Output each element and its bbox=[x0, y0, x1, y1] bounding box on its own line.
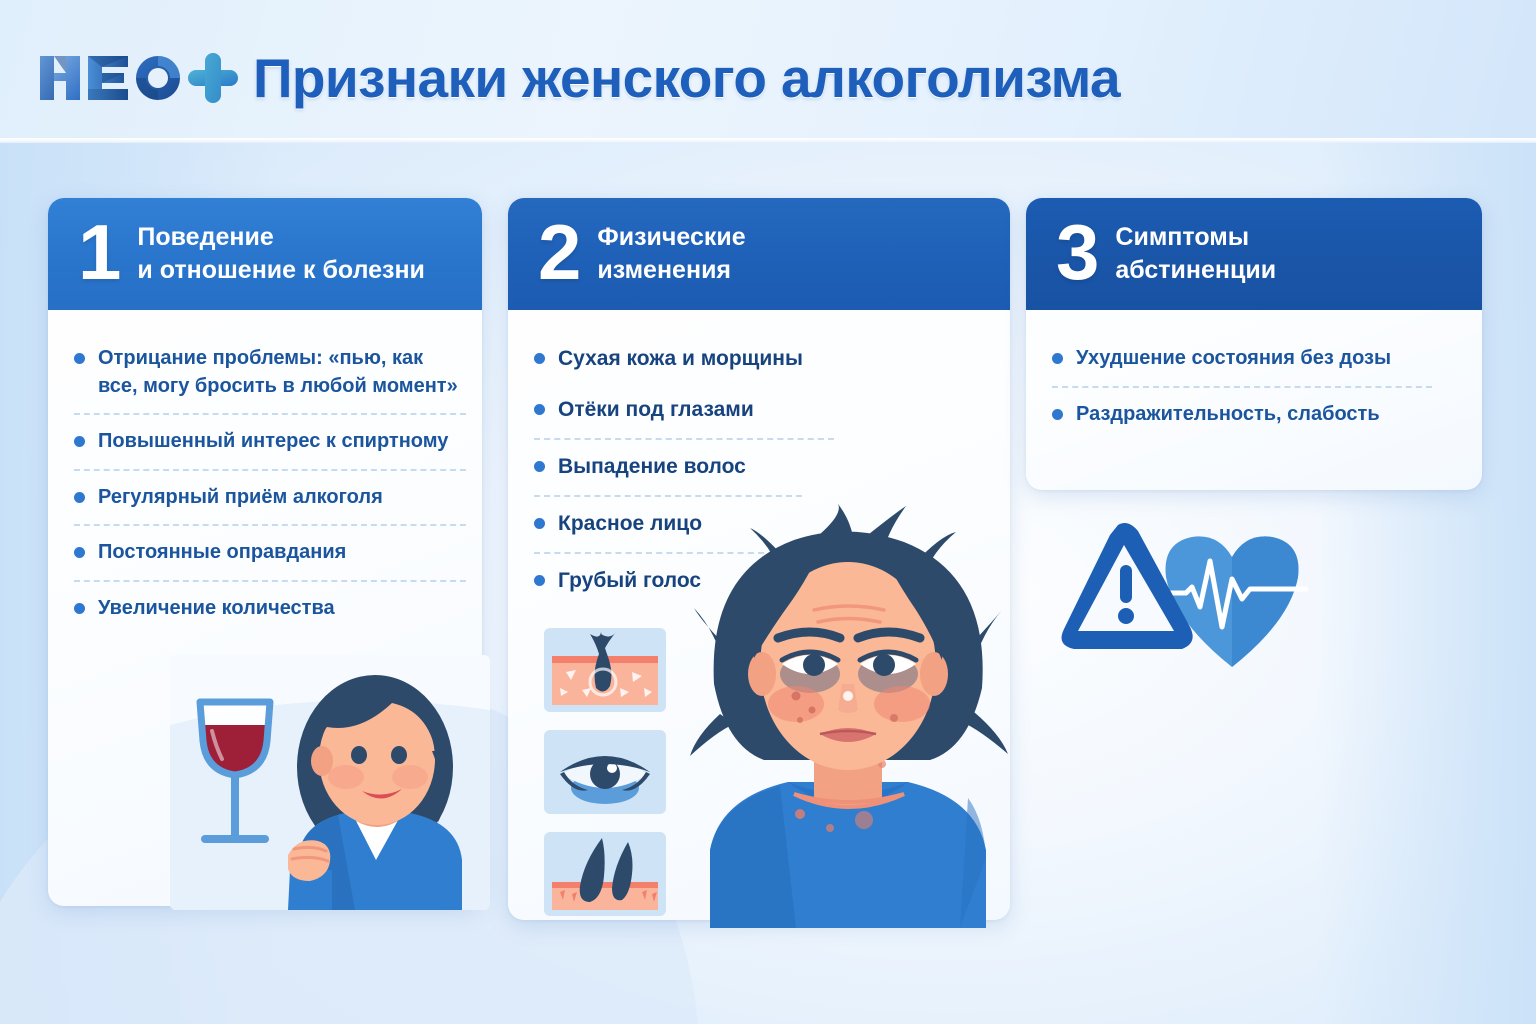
card-2-item-2: Отёки под глазами bbox=[558, 396, 754, 425]
card-1-item-1: Отрицание проблемы: «пью, как все, могу … bbox=[98, 345, 460, 400]
card-3-title-line2: абстиненции bbox=[1115, 254, 1276, 287]
list-separator bbox=[1052, 386, 1432, 388]
separator-row bbox=[1048, 386, 1460, 388]
card-3-item-1: Ухудшение состояния без дозы bbox=[1076, 345, 1391, 373]
card-2-item-5: Грубый голос bbox=[558, 567, 701, 596]
symptom-icon-panels bbox=[544, 626, 666, 916]
card-2-title-line1: Физические bbox=[597, 223, 745, 251]
card-1-title: Поведение и отношение к болезни bbox=[137, 221, 425, 287]
bullet-icon bbox=[534, 353, 545, 364]
bullet-icon bbox=[534, 518, 545, 529]
list-separator bbox=[74, 413, 466, 415]
separator-row bbox=[530, 552, 988, 554]
list-separator bbox=[534, 438, 834, 440]
separator-row bbox=[530, 438, 988, 440]
card-3-header: 3 Симптомы абстиненции bbox=[1026, 198, 1482, 310]
card-3-item-2: Раздражительность, слабость bbox=[1076, 401, 1380, 429]
card-2-body: Сухая кожа и морщины Отёки под глазами В… bbox=[508, 310, 1010, 607]
list-item: Повышенный интерес к спиртному bbox=[70, 417, 460, 467]
card-2-title-line2: изменения bbox=[597, 254, 745, 287]
list-separator bbox=[74, 469, 466, 471]
bullet-icon bbox=[1052, 353, 1063, 364]
card-2-title: Физические изменения bbox=[597, 221, 745, 287]
card-3-list: Ухудшение состояния без дозы Раздражител… bbox=[1048, 334, 1460, 439]
card-2-number: 2 bbox=[538, 221, 581, 285]
infographic-page: Признаки женского алкоголизма 1 Поведени… bbox=[0, 0, 1536, 1024]
header-divider bbox=[0, 138, 1536, 143]
card-3-body: Ухудшение состояния без дозы Раздражител… bbox=[1026, 310, 1482, 439]
card-3-title: Симптомы абстиненции bbox=[1115, 221, 1276, 287]
bullet-icon bbox=[74, 353, 85, 364]
bullet-icon bbox=[74, 603, 85, 614]
card-3-number: 3 bbox=[1056, 221, 1099, 285]
list-separator bbox=[74, 524, 466, 526]
separator-row bbox=[70, 580, 460, 582]
card-1-item-2: Повышенный интерес к спиртному bbox=[98, 428, 448, 456]
card-3-title-line1: Симптомы bbox=[1115, 223, 1249, 251]
list-item: Ухудшение состояния без дозы bbox=[1048, 334, 1460, 384]
bullet-icon bbox=[534, 461, 545, 472]
bullet-icon bbox=[74, 492, 85, 503]
bullet-icon bbox=[74, 547, 85, 558]
card-2-item-3: Выпадение волос bbox=[558, 453, 746, 482]
list-item: Отёки под глазами bbox=[530, 385, 988, 436]
list-item: Регулярный приём алкоголя bbox=[70, 473, 460, 523]
card-1-body: Отрицание проблемы: «пью, как все, могу … bbox=[48, 310, 482, 634]
card-1-list: Отрицание проблемы: «пью, как все, могу … bbox=[70, 334, 460, 634]
list-separator bbox=[74, 580, 466, 582]
card-1-header: 1 Поведение и отношение к болезни bbox=[48, 198, 482, 310]
bullet-icon bbox=[74, 436, 85, 447]
list-item: Увеличение количества bbox=[70, 584, 460, 634]
warning-and-heart-illustration bbox=[1050, 515, 1322, 675]
list-item: Грубый голос bbox=[530, 556, 988, 607]
card-1-item-4: Постоянные оправдания bbox=[98, 539, 346, 567]
separator-row bbox=[70, 413, 460, 415]
list-item: Раздражительность, слабость bbox=[1048, 390, 1460, 440]
card-2-item-1: Сухая кожа и морщины bbox=[558, 345, 803, 374]
list-item: Отрицание проблемы: «пью, как все, могу … bbox=[70, 334, 460, 411]
card-1-title-line1: Поведение bbox=[137, 223, 273, 251]
card-1-item-5: Увеличение количества bbox=[98, 595, 335, 623]
bullet-icon bbox=[534, 404, 545, 415]
card-1-number: 1 bbox=[78, 221, 121, 285]
smiling-woman-with-wine-glass-illustration bbox=[170, 655, 490, 910]
bullet-icon bbox=[1052, 409, 1063, 420]
separator-row bbox=[530, 495, 988, 497]
card-2-header: 2 Физические изменения bbox=[508, 198, 1010, 310]
list-item: Выпадение волос bbox=[530, 442, 988, 493]
card-1-title-line2: и отношение к болезни bbox=[137, 254, 425, 287]
list-item: Постоянные оправдания bbox=[70, 528, 460, 578]
card-2-item-4: Красное лицо bbox=[558, 510, 702, 539]
separator-row bbox=[70, 469, 460, 471]
card-1-item-3: Регулярный приём алкоголя bbox=[98, 484, 383, 512]
page-header: Признаки женского алкоголизма bbox=[0, 0, 1536, 140]
tired-eye-with-bag-icon bbox=[544, 730, 666, 814]
card-withdrawal-symptoms: 3 Симптомы абстиненции Ухудшение состоян… bbox=[1026, 198, 1482, 490]
hair-loss-icon bbox=[544, 832, 666, 916]
card-2-list: Сухая кожа и морщины Отёки под глазами В… bbox=[530, 334, 988, 607]
separator-row bbox=[70, 524, 460, 526]
skin-hair-follicle-icon bbox=[544, 628, 666, 712]
list-item: Сухая кожа и морщины bbox=[530, 334, 988, 385]
page-title: Признаки женского алкоголизма bbox=[253, 46, 1120, 110]
list-item: Красное лицо bbox=[530, 499, 988, 550]
list-separator bbox=[534, 552, 764, 554]
list-separator bbox=[534, 495, 802, 497]
bullet-icon bbox=[534, 575, 545, 586]
neo-plus-logo bbox=[36, 48, 242, 104]
